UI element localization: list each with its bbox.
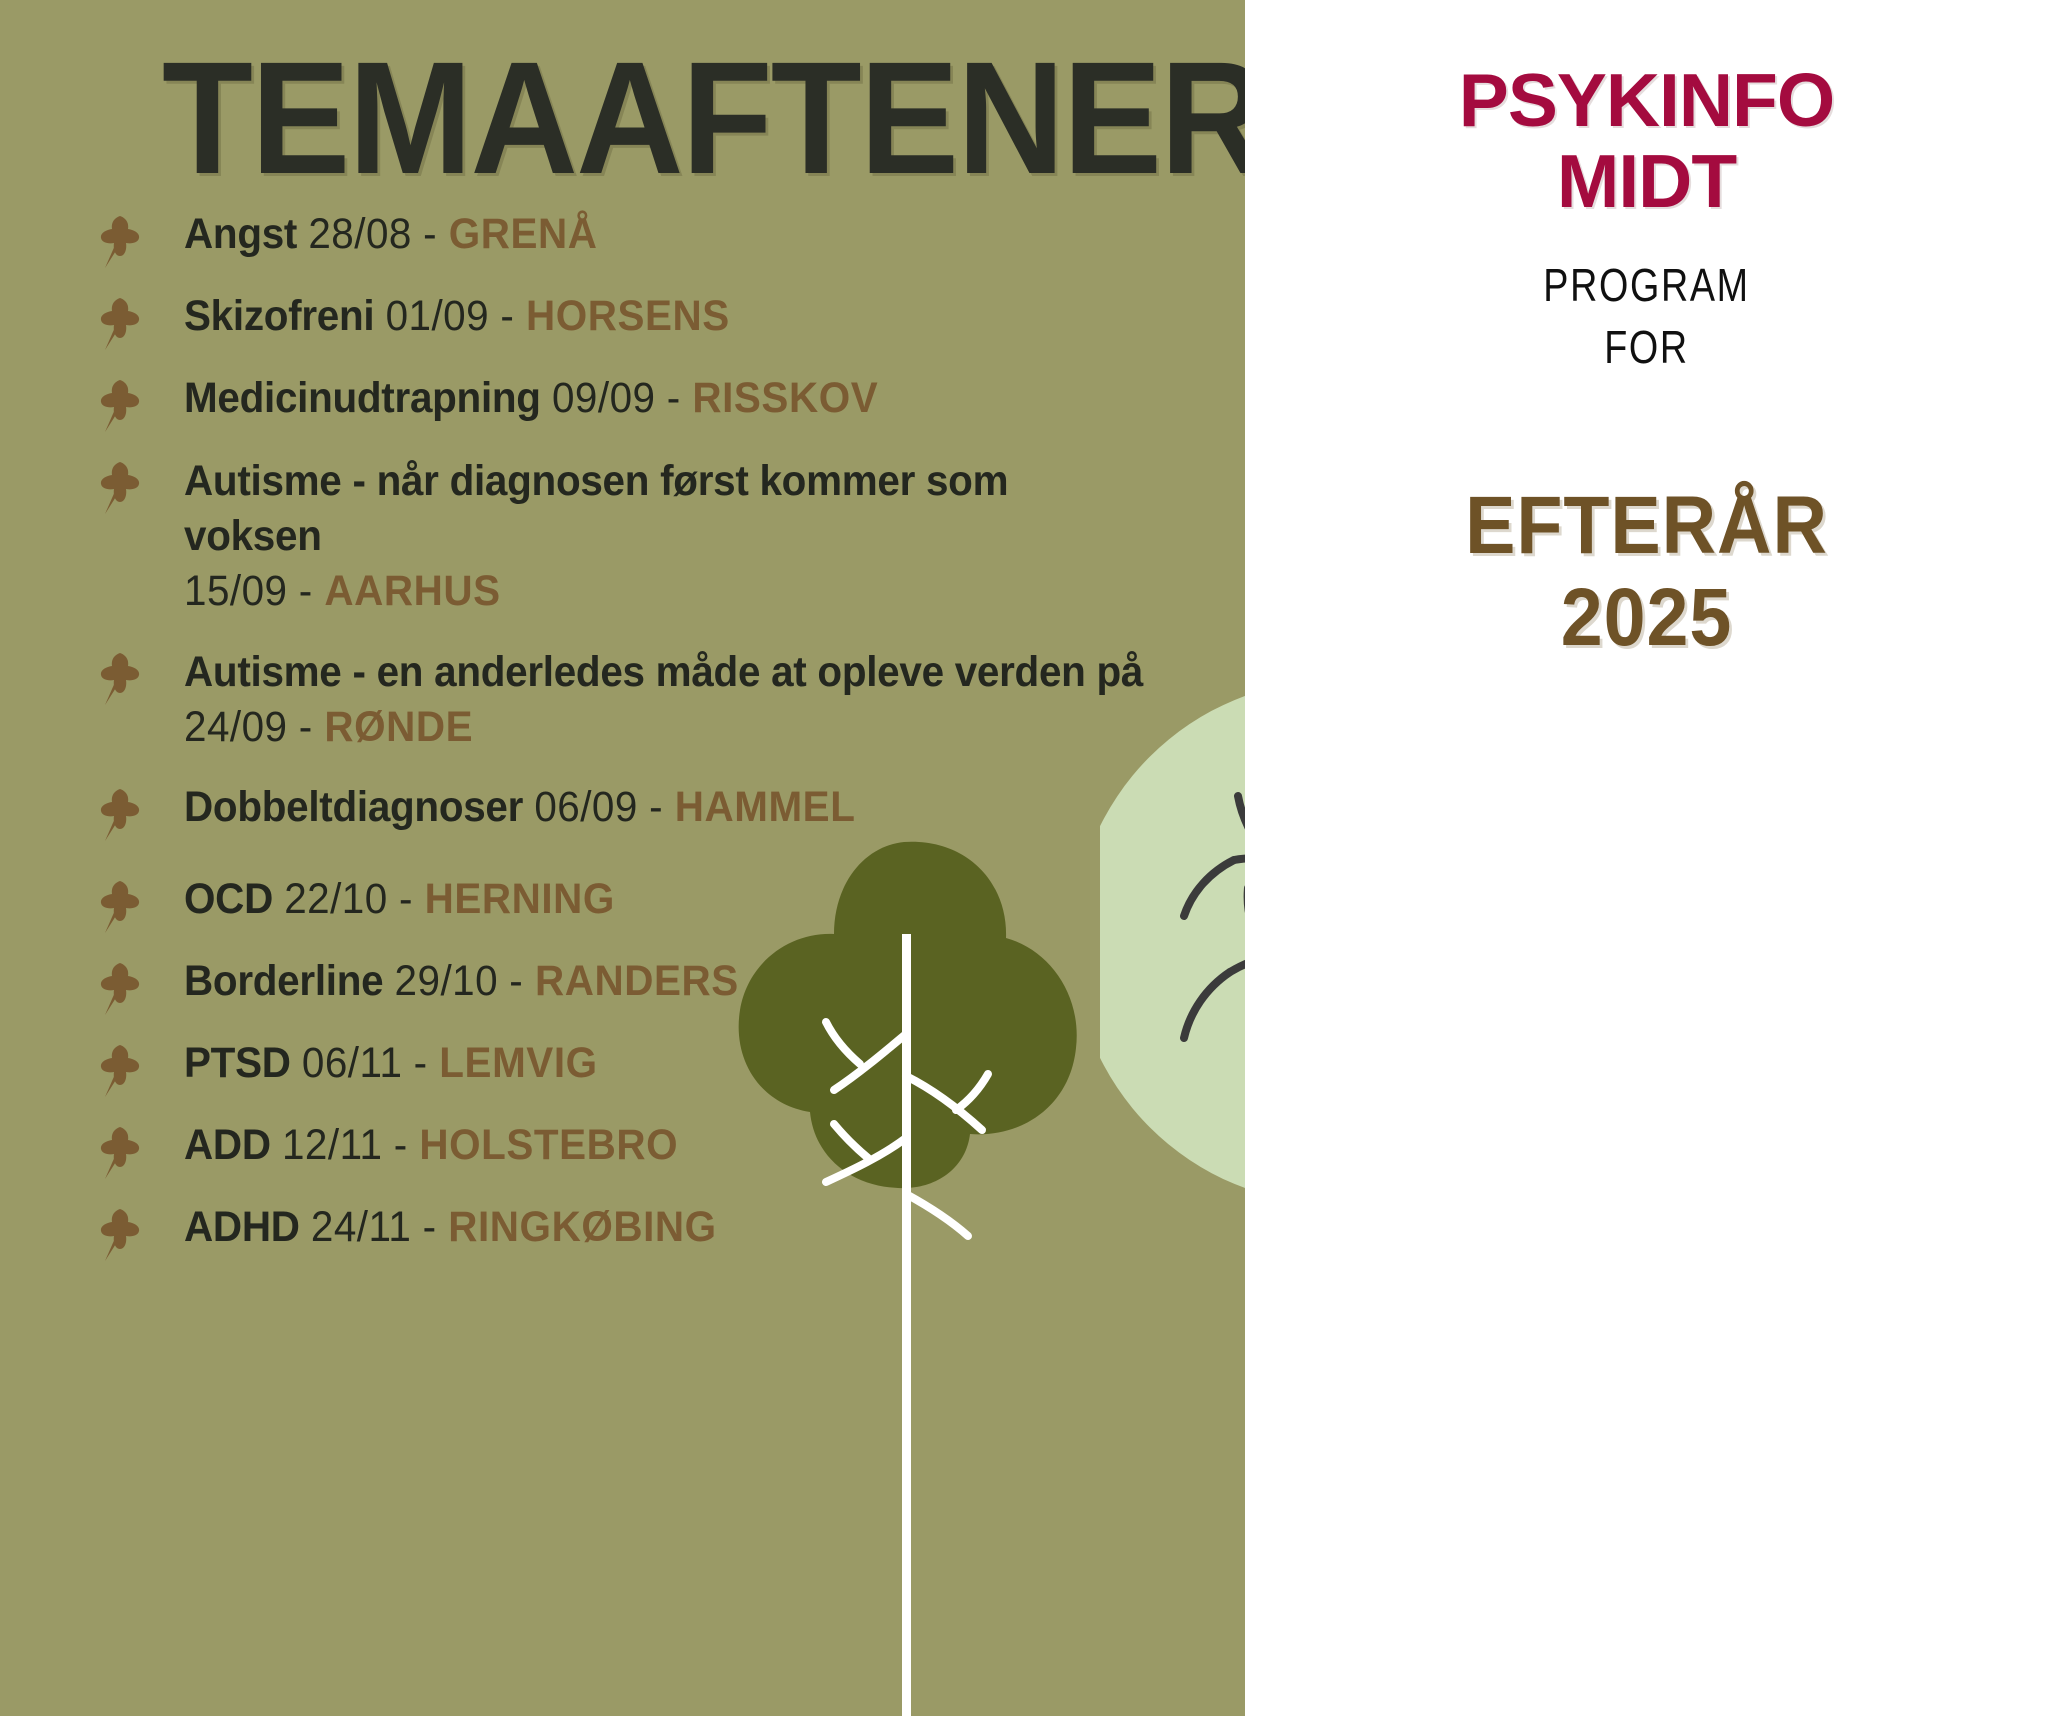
- event-date: 22/10: [284, 875, 388, 923]
- event-dash: -: [399, 875, 413, 923]
- event-city: GRENÅ: [449, 210, 598, 258]
- list-item[interactable]: Autisme - en anderledes måde at opleve v…: [96, 645, 1216, 755]
- list-item[interactable]: Borderline 29/10 - RANDERS: [96, 955, 1216, 1017]
- event-topic: PTSD: [184, 1039, 291, 1087]
- list-item[interactable]: PTSD 06/11 - LEMVIG: [96, 1037, 1216, 1099]
- list-item[interactable]: OCD 22/10 - HERNING: [96, 873, 1216, 935]
- event-dash: -: [423, 210, 437, 258]
- right-branding-panel: PSYKINFO MIDT PROGRAM FOR EFTERÅR 2025: [1245, 0, 2048, 1716]
- event-dash: -: [414, 1039, 428, 1087]
- event-city: HORSENS: [526, 292, 730, 340]
- pushpin-icon: [96, 208, 184, 270]
- pushpin-icon: [96, 955, 184, 1017]
- event-date: 06/11: [302, 1039, 403, 1087]
- event-topic: Dobbeltdiagnoser: [184, 783, 523, 831]
- event-city: HOLSTEBRO: [419, 1121, 678, 1169]
- list-item[interactable]: ADHD 24/11 - RINGKØBING: [96, 1201, 1216, 1263]
- pushpin-icon: [96, 781, 184, 843]
- event-city: HAMMEL: [675, 783, 856, 831]
- event-date: 06/09: [534, 783, 638, 831]
- event-line: Dobbeltdiagnoser 06/09 - HAMMEL: [184, 781, 1154, 833]
- event-topic: ADD: [184, 1121, 271, 1169]
- event-line: Autisme - når diagnosen først kommer som…: [184, 454, 1154, 619]
- event-topic: Skizofreni: [184, 292, 374, 340]
- pushpin-icon: [96, 1201, 184, 1263]
- event-line: Autisme - en anderledes måde at opleve v…: [184, 645, 1154, 755]
- event-topic: Autisme - når diagnosen først kommer som…: [184, 457, 1008, 560]
- event-dash: -: [500, 292, 514, 340]
- event-city: AARHUS: [324, 567, 500, 615]
- event-dash: -: [667, 374, 681, 422]
- pushpin-icon: [96, 645, 184, 707]
- event-date: 09/09: [552, 374, 656, 422]
- event-dash: -: [299, 703, 313, 751]
- list-item[interactable]: ADD 12/11 - HOLSTEBRO: [96, 1119, 1216, 1181]
- event-dash: -: [394, 1121, 408, 1169]
- event-topic: OCD: [184, 875, 273, 923]
- season-year: 2025: [1277, 572, 2016, 664]
- event-date: 15/09: [184, 567, 288, 615]
- event-topic: Autisme - en anderledes måde at opleve v…: [184, 648, 1143, 696]
- event-topic: ADHD: [184, 1203, 300, 1251]
- event-line: Medicinudtrapning 09/09 - RISSKOV: [184, 372, 1154, 424]
- event-date: 24/09: [184, 703, 288, 751]
- list-item[interactable]: Angst 28/08 - GRENÅ: [96, 208, 1216, 270]
- event-topic: Angst: [184, 210, 297, 258]
- pushpin-icon: [96, 1037, 184, 1099]
- left-content-panel: TEMAAFTENER Angst 28/08 - GRENÅ: [0, 0, 1245, 1716]
- event-city: RANDERS: [535, 957, 739, 1005]
- event-list: Angst 28/08 - GRENÅ Skizofreni 01/09: [96, 208, 1216, 1275]
- event-line: OCD 22/10 - HERNING: [184, 873, 1154, 925]
- event-city: RØNDE: [324, 703, 473, 751]
- pushpin-icon: [96, 873, 184, 935]
- list-item[interactable]: Autisme - når diagnosen først kommer som…: [96, 454, 1216, 619]
- brand-logo-text: PSYKINFO MIDT: [1245, 60, 2048, 222]
- list-item[interactable]: Medicinudtrapning 09/09 - RISSKOV: [96, 372, 1216, 434]
- event-dash: -: [509, 957, 523, 1005]
- event-line: ADHD 24/11 - RINGKØBING: [184, 1201, 1154, 1253]
- event-date: 24/11: [311, 1203, 412, 1251]
- event-city: LEMVIG: [439, 1039, 597, 1087]
- brand-line-1: PSYKINFO: [1459, 58, 1834, 142]
- event-line: ADD 12/11 - HOLSTEBRO: [184, 1119, 1154, 1171]
- event-city: HERNING: [425, 875, 615, 923]
- for-label: FOR: [1317, 320, 1975, 374]
- event-topic: Medicinudtrapning: [184, 374, 541, 422]
- pushpin-icon: [96, 1119, 184, 1181]
- event-dash: -: [423, 1203, 437, 1251]
- list-item[interactable]: Dobbeltdiagnoser 06/09 - HAMMEL: [96, 781, 1216, 843]
- event-line: Borderline 29/10 - RANDERS: [184, 955, 1154, 1007]
- page-title: TEMAAFTENER: [162, 38, 1245, 198]
- pushpin-icon: [96, 290, 184, 352]
- pushpin-icon: [96, 372, 184, 434]
- event-dash: -: [299, 567, 313, 615]
- event-topic: Borderline: [184, 957, 383, 1005]
- event-city: RINGKØBING: [448, 1203, 716, 1251]
- poster-canvas: TEMAAFTENER Angst 28/08 - GRENÅ: [0, 0, 2048, 1716]
- event-line: Angst 28/08 - GRENÅ: [184, 208, 1154, 260]
- event-date: 28/08: [308, 210, 412, 258]
- brand-line-2: MIDT: [1245, 141, 2048, 222]
- event-date: 01/09: [386, 292, 490, 340]
- event-line: PTSD 06/11 - LEMVIG: [184, 1037, 1154, 1089]
- event-dash: -: [649, 783, 663, 831]
- pushpin-icon: [96, 454, 184, 516]
- event-city: RISSKOV: [692, 374, 878, 422]
- event-date: 29/10: [395, 957, 499, 1005]
- event-date: 12/11: [282, 1121, 383, 1169]
- list-item[interactable]: Skizofreni 01/09 - HORSENS: [96, 290, 1216, 352]
- season-name: EFTERÅR: [1465, 480, 1828, 571]
- event-line: Skizofreni 01/09 - HORSENS: [184, 290, 1154, 342]
- season-heading: EFTERÅR 2025: [1277, 480, 2016, 664]
- program-label: PROGRAM: [1317, 258, 1975, 312]
